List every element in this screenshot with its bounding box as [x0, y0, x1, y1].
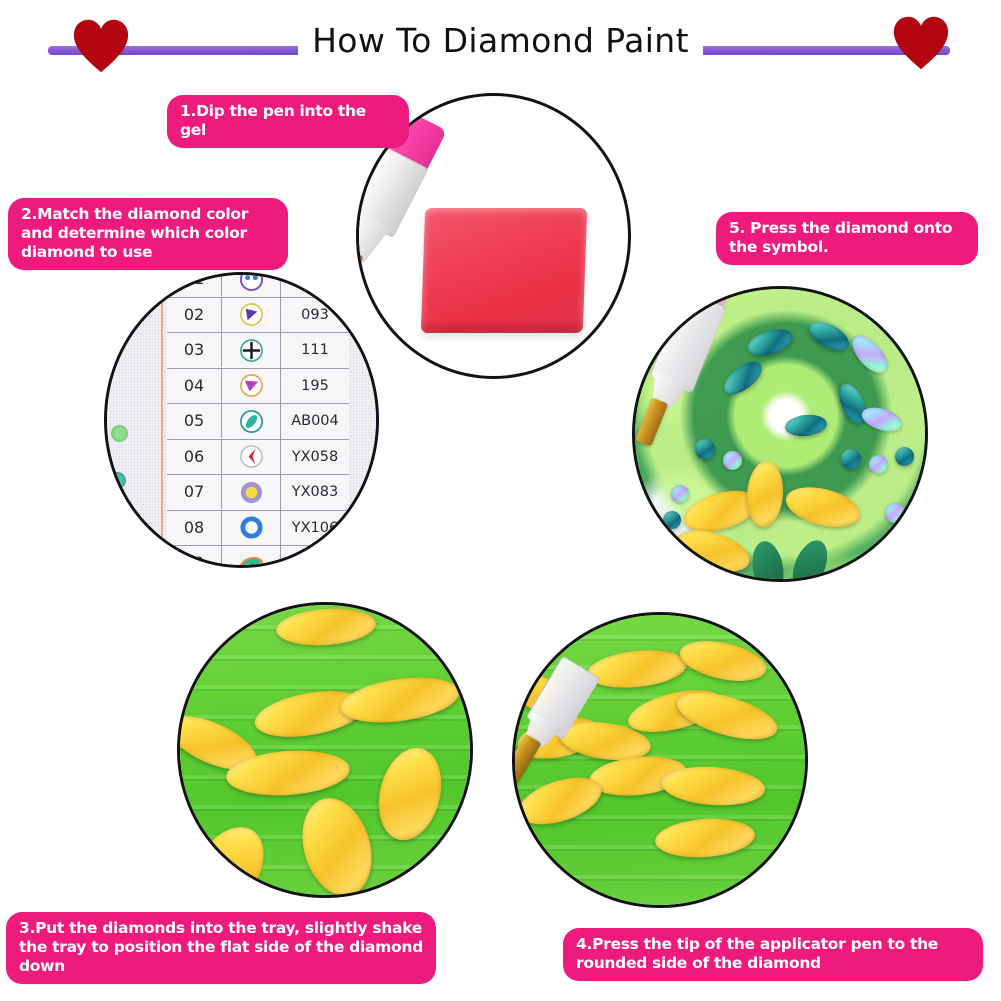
step-5-photo-inner: [635, 289, 925, 579]
table-row: 04 195: [167, 369, 349, 405]
leaf-icon: [222, 546, 281, 565]
canvas-symbol: [107, 521, 124, 538]
step-4-label: 4.Press the tip of the applicator pen to…: [563, 928, 983, 981]
legend-code: 020: [281, 275, 349, 296]
canvas-symbol: [111, 425, 128, 442]
table-row: 09 YX125: [167, 546, 349, 565]
page-title: How To Diamond Paint: [0, 20, 1001, 62]
legend-number: 05: [167, 404, 222, 438]
legend-number: 02: [167, 298, 222, 332]
legend-code: AB004: [281, 404, 349, 438]
pen-tip: [515, 734, 542, 796]
triangle-icon: [222, 298, 281, 333]
legend-number: 07: [167, 475, 222, 509]
face-icon: [222, 275, 281, 297]
legend-number: 03: [167, 333, 222, 367]
table-row: 05 AB004: [167, 404, 349, 440]
table-row: 01 020: [167, 275, 349, 298]
pen-tip: [635, 398, 668, 447]
legend-code: YX058: [281, 440, 349, 474]
ellipse-icon: [222, 404, 281, 439]
canvas-symbol: [109, 472, 126, 489]
diamond-gem: [695, 439, 715, 459]
legend-number: 06: [167, 440, 222, 474]
plus-icon: [222, 333, 281, 368]
step-5-label: 5. Press the diamond onto the symbol.: [716, 212, 978, 265]
legend-number: 08: [167, 511, 222, 545]
step-3-photo: [177, 602, 473, 898]
step-3-label: 3.Put the diamonds into the tray, slight…: [6, 912, 436, 984]
legend-code: YX106: [281, 511, 349, 545]
step-2-photo-inner: 01 020 02 093 03: [107, 275, 376, 565]
arrow-left-icon: [222, 440, 281, 475]
page-header: How To Diamond Paint: [0, 0, 1001, 80]
legend-code: 111: [281, 333, 349, 367]
step-3-photo-inner: [180, 605, 470, 895]
table-row: 03 111: [167, 333, 349, 369]
triangle-icon: [222, 369, 281, 404]
step-1-label: 1.Dip the pen into the gel: [167, 95, 409, 148]
diamond-gem: [663, 511, 681, 529]
diamond-gem: [723, 451, 742, 470]
table-row: 07 YX083: [167, 475, 349, 511]
legend-number: 09: [167, 546, 222, 565]
legend-code: 195: [281, 369, 349, 403]
step-2-label: 2.Match the diamond color and determine …: [8, 198, 288, 270]
diamond-gem: [869, 455, 888, 474]
legend-number: 01: [167, 275, 222, 296]
table-row: 08 YX106: [167, 511, 349, 547]
infographic-page: How To Diamond Paint 1.Dip the pen into …: [0, 0, 1001, 1001]
step-2-photo: 01 020 02 093 03: [104, 272, 379, 568]
ring-icon: [222, 511, 281, 546]
step-4-photo: [512, 612, 808, 908]
diamond-gem: [895, 447, 914, 466]
legend-code: 093: [281, 298, 349, 332]
table-row: 02 093: [167, 298, 349, 334]
page-title-text: How To Diamond Paint: [298, 20, 703, 62]
gel-pad: [421, 208, 587, 333]
diamond-gem: [885, 503, 905, 523]
table-row: 06 YX058: [167, 440, 349, 476]
step-4-photo-inner: [515, 615, 805, 905]
legend-chart: 01 020 02 093 03: [167, 275, 349, 565]
diamond-gem: [671, 485, 689, 503]
legend-number: 04: [167, 369, 222, 403]
canvas-guide-line: [161, 275, 163, 565]
step-5-photo: [632, 286, 928, 582]
legend-code: YX125: [281, 546, 349, 565]
legend-code: YX083: [281, 475, 349, 509]
dot-icon: [222, 475, 281, 510]
diamond-gem: [841, 449, 861, 469]
